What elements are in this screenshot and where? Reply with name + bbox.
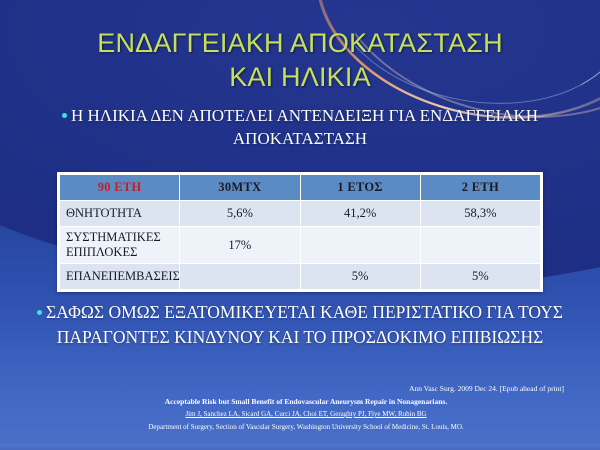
slide-title-line-2: ΚΑΙ ΗΛΙΚΙΑ xyxy=(0,60,600,94)
table-row: ΘΝΗΤΟΤΗΤΑ 5,6% 41,2% 58,3% xyxy=(60,201,541,227)
cell-complications-1yr xyxy=(300,227,420,264)
table-header-1yr: 1 ΕΤΟΣ xyxy=(300,175,420,201)
citation-affiliation: Department of Surgery, Section of Vascul… xyxy=(30,421,582,434)
bullet-dot-icon xyxy=(37,310,42,315)
citation-journal: Ann Vasc Surg. 2009 Dec 24. [Epub ahead … xyxy=(30,383,582,396)
row-label-reinterventions: ΕΠΑΝΕΠΕΜΒΑΣΕΙΣ xyxy=(60,264,180,290)
cell-reinterventions-1yr: 5% xyxy=(300,264,420,290)
presentation-slide: ΕΝΔΑΓΓΕΙΑΚΗ ΑΠΟΚΑΤΑΣΤΑΣΗ ΚΑΙ ΗΛΙΚΙΑ Η ΗΛ… xyxy=(0,0,600,450)
results-table-head: 90 ΕΤΗ 30ΜΤΧ 1 ΕΤΟΣ 2 ΕΤΗ xyxy=(60,175,541,201)
cell-mortality-1yr: 41,2% xyxy=(300,201,420,227)
table-header-age: 90 ΕΤΗ xyxy=(60,175,180,201)
citation-block: Ann Vasc Surg. 2009 Dec 24. [Epub ahead … xyxy=(30,383,582,433)
cell-reinterventions-2yr: 5% xyxy=(420,264,540,290)
table-header-30d: 30ΜΤΧ xyxy=(180,175,300,201)
table-row: ΕΠΑΝΕΠΕΜΒΑΣΕΙΣ 5% 5% xyxy=(60,264,541,290)
cell-reinterventions-30d xyxy=(180,264,300,290)
citation-article-title: Acceptable Risk but Small Benefit of End… xyxy=(30,396,582,409)
table-row: ΣΥΣΤΗΜΑΤΙΚΕΣ ΕΠΙΠΛΟΚΕΣ 17% xyxy=(60,227,541,264)
table-header-2yr: 2 ΕΤΗ xyxy=(420,175,540,201)
bullet-dot-icon xyxy=(62,113,67,118)
results-table-body: ΘΝΗΤΟΤΗΤΑ 5,6% 41,2% 58,3% ΣΥΣΤΗΜΑΤΙΚΕΣ … xyxy=(60,201,541,290)
results-table: 90 ΕΤΗ 30ΜΤΧ 1 ΕΤΟΣ 2 ΕΤΗ ΘΝΗΤΟΤΗΤΑ 5,6%… xyxy=(59,174,541,290)
bullet-top-text: Η ΗΛΙΚΙΑ ΔΕΝ ΑΠΟΤΕΛΕΙ ΑΝΤΕΝΔΕΙΞΗ ΓΙΑ ΕΝΔ… xyxy=(71,106,538,148)
cell-mortality-2yr: 58,3% xyxy=(420,201,540,227)
bullet-top: Η ΗΛΙΚΙΑ ΔΕΝ ΑΠΟΤΕΛΕΙ ΑΝΤΕΝΔΕΙΞΗ ΓΙΑ ΕΝΔ… xyxy=(28,104,572,150)
bullet-bottom: ΣΑΦΩΣ ΟΜΩΣ ΕΞΑΤΟΜΙΚΕΥΕΤΑΙ ΚΑΘΕ ΠΕΡΙΣΤΑΤΙ… xyxy=(28,300,572,350)
results-table-wrapper: 90 ΕΤΗ 30ΜΤΧ 1 ΕΤΟΣ 2 ΕΤΗ ΘΝΗΤΟΤΗΤΑ 5,6%… xyxy=(57,172,543,292)
citation-authors-links[interactable]: Jim J, Sanchez LA, Sicard GA, Curci JA, … xyxy=(185,410,426,418)
table-header-row: 90 ΕΤΗ 30ΜΤΧ 1 ΕΤΟΣ 2 ΕΤΗ xyxy=(60,175,541,201)
row-label-systemic-complications: ΣΥΣΤΗΜΑΤΙΚΕΣ ΕΠΙΠΛΟΚΕΣ xyxy=(60,227,180,264)
slide-title: ΕΝΔΑΓΓΕΙΑΚΗ ΑΠΟΚΑΤΑΣΤΑΣΗ ΚΑΙ ΗΛΙΚΙΑ xyxy=(0,26,600,94)
cell-mortality-30d: 5,6% xyxy=(180,201,300,227)
cell-complications-2yr xyxy=(420,227,540,264)
citation-authors[interactable]: Jim J, Sanchez LA, Sicard GA, Curci JA, … xyxy=(30,408,582,421)
bullet-bottom-text: ΣΑΦΩΣ ΟΜΩΣ ΕΞΑΤΟΜΙΚΕΥΕΤΑΙ ΚΑΘΕ ΠΕΡΙΣΤΑΤΙ… xyxy=(46,302,563,347)
slide-title-line-1: ΕΝΔΑΓΓΕΙΑΚΗ ΑΠΟΚΑΤΑΣΤΑΣΗ xyxy=(0,26,600,60)
cell-complications-30d: 17% xyxy=(180,227,300,264)
row-label-mortality: ΘΝΗΤΟΤΗΤΑ xyxy=(60,201,180,227)
